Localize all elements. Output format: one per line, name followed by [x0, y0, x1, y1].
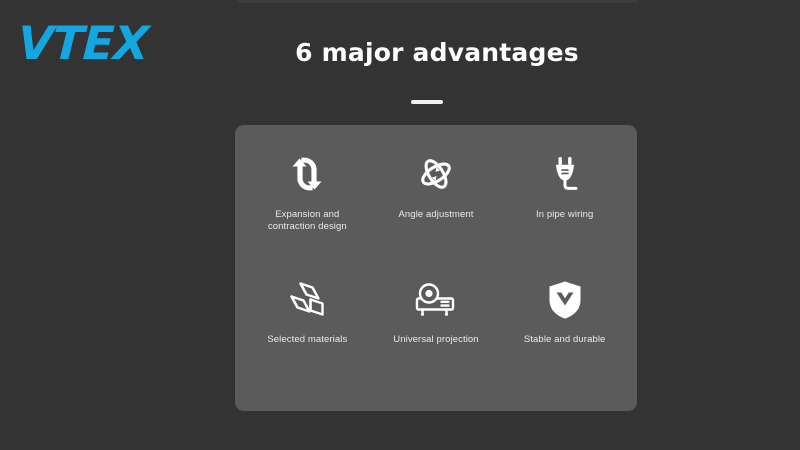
metal-ingots-icon [284, 270, 330, 330]
feature-label: Selected materials [267, 334, 347, 346]
features-grid: Expansion and contraction design Angle a… [235, 125, 637, 411]
top-accent-strip [237, 0, 637, 3]
feature-label: Angle adjustment [398, 209, 473, 221]
features-panel: Expansion and contraction design Angle a… [235, 125, 637, 411]
feature-label: Universal projection [393, 334, 478, 346]
multi-axis-rotation-icon [414, 143, 458, 205]
feature-card-selected-materials[interactable]: Selected materials [243, 270, 372, 397]
feature-card-stable-durable[interactable]: Stable and durable [500, 270, 629, 397]
power-plug-icon [543, 143, 587, 205]
feature-card-universal-projection[interactable]: Universal projection [372, 270, 501, 397]
projector-icon [412, 270, 460, 330]
title-divider [411, 100, 443, 104]
feature-card-in-pipe-wiring[interactable]: In pipe wiring [500, 143, 629, 270]
slide-canvas: VTEX 6 major advantages Expansion and co… [0, 0, 800, 450]
feature-label-line2: contraction design [268, 221, 347, 233]
feature-label-line1: Expansion and [268, 209, 347, 221]
refresh-cycle-arrows-icon [285, 143, 329, 205]
feature-label: Stable and durable [524, 334, 606, 346]
page-title: 6 major advantages [237, 38, 637, 67]
shield-check-icon [545, 270, 585, 330]
feature-card-angle-adjustment[interactable]: Angle adjustment [372, 143, 501, 270]
feature-card-expansion-contraction[interactable]: Expansion and contraction design [243, 143, 372, 270]
vtex-logo: VTEX [17, 20, 149, 66]
feature-label: In pipe wiring [536, 209, 593, 221]
feature-label: Expansion and contraction design [268, 209, 347, 233]
